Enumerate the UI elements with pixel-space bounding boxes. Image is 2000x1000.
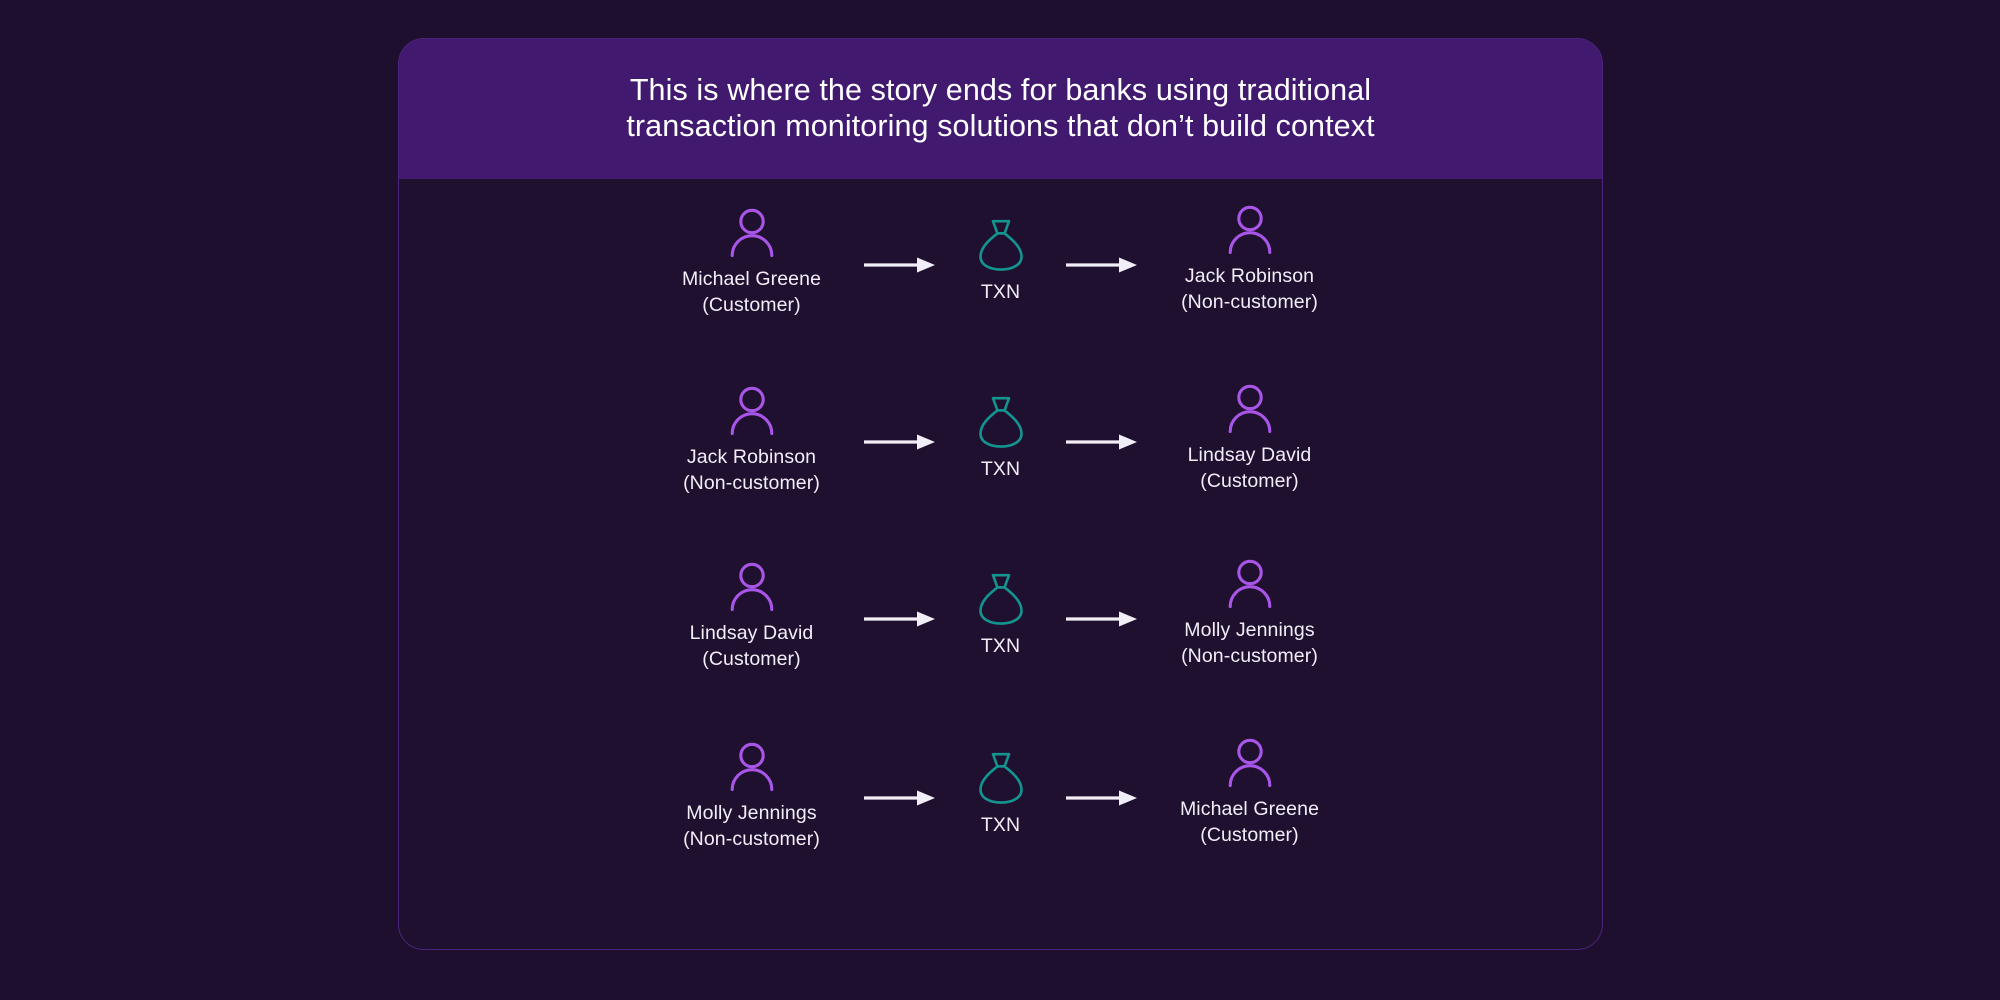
flow-source-label: Jack Robinson bbox=[687, 445, 816, 471]
person-icon bbox=[1223, 201, 1277, 259]
money-bag-icon bbox=[976, 393, 1026, 451]
arrow-right-icon bbox=[1060, 759, 1144, 837]
flow-source-node[interactable]: Lindsay David (Customer) bbox=[646, 558, 858, 672]
flow-source-status: (Customer) bbox=[702, 293, 801, 319]
flow-source-status: (Non-customer) bbox=[683, 827, 820, 853]
flow-target-status: (Customer) bbox=[1200, 823, 1299, 849]
flow-row: Molly Jennings (Non-customer) bbox=[399, 738, 1602, 888]
money-bag-icon bbox=[976, 570, 1026, 628]
card-title: This is where the story ends for banks u… bbox=[626, 73, 1374, 145]
flow-target-node[interactable]: Michael Greene (Customer) bbox=[1144, 734, 1356, 848]
flow-source-label: Molly Jennings bbox=[686, 801, 816, 827]
flow-source-label: Michael Greene bbox=[682, 267, 821, 293]
arrow-right-icon bbox=[858, 759, 942, 837]
transaction-node[interactable]: TXN bbox=[942, 749, 1060, 839]
transaction-label: TXN bbox=[981, 634, 1020, 660]
person-icon bbox=[725, 382, 779, 440]
money-bag-icon bbox=[976, 216, 1026, 274]
person-icon bbox=[725, 204, 779, 262]
flow-source-node[interactable]: Molly Jennings (Non-customer) bbox=[646, 738, 858, 852]
person-icon bbox=[725, 558, 779, 616]
arrow-right-icon bbox=[858, 403, 942, 481]
flow-target-label: Michael Greene bbox=[1180, 797, 1319, 823]
card-body: Michael Greene (Customer) bbox=[399, 179, 1602, 948]
flow-row: Jack Robinson (Non-customer) bbox=[399, 382, 1602, 532]
flow-row: Michael Greene (Customer) bbox=[399, 204, 1602, 354]
transaction-node[interactable]: TXN bbox=[942, 570, 1060, 660]
flow-target-status: (Customer) bbox=[1200, 469, 1299, 495]
flow-target-status: (Non-customer) bbox=[1181, 290, 1318, 316]
flow-row: Lindsay David (Customer) bbox=[399, 558, 1602, 708]
transaction-label: TXN bbox=[981, 813, 1020, 839]
transaction-node[interactable]: TXN bbox=[942, 216, 1060, 306]
transaction-label: TXN bbox=[981, 280, 1020, 306]
transaction-node[interactable]: TXN bbox=[942, 393, 1060, 483]
person-icon bbox=[1223, 380, 1277, 438]
flow-target-status: (Non-customer) bbox=[1181, 644, 1318, 670]
flow-target-node[interactable]: Jack Robinson (Non-customer) bbox=[1144, 201, 1356, 315]
flow-source-node[interactable]: Jack Robinson (Non-customer) bbox=[646, 382, 858, 496]
person-icon bbox=[1223, 555, 1277, 613]
arrow-right-icon bbox=[858, 580, 942, 658]
card-header: This is where the story ends for banks u… bbox=[399, 39, 1602, 179]
flow-source-node[interactable]: Michael Greene (Customer) bbox=[646, 204, 858, 318]
flow-target-label: Jack Robinson bbox=[1185, 264, 1314, 290]
flow-source-status: (Customer) bbox=[702, 647, 801, 673]
flow-source-label: Lindsay David bbox=[690, 621, 814, 647]
flow-target-node[interactable]: Lindsay David (Customer) bbox=[1144, 380, 1356, 494]
person-icon bbox=[1223, 734, 1277, 792]
arrow-right-icon bbox=[858, 226, 942, 304]
page-canvas: This is where the story ends for banks u… bbox=[0, 0, 2000, 1000]
arrow-right-icon bbox=[1060, 226, 1144, 304]
money-bag-icon bbox=[976, 749, 1026, 807]
flow-target-node[interactable]: Molly Jennings (Non-customer) bbox=[1144, 555, 1356, 669]
person-icon bbox=[725, 738, 779, 796]
arrow-right-icon bbox=[1060, 403, 1144, 481]
story-card: This is where the story ends for banks u… bbox=[398, 38, 1603, 950]
arrow-right-icon bbox=[1060, 580, 1144, 658]
flow-source-status: (Non-customer) bbox=[683, 471, 820, 497]
flow-target-label: Lindsay David bbox=[1188, 443, 1312, 469]
transaction-label: TXN bbox=[981, 457, 1020, 483]
flow-target-label: Molly Jennings bbox=[1184, 618, 1314, 644]
